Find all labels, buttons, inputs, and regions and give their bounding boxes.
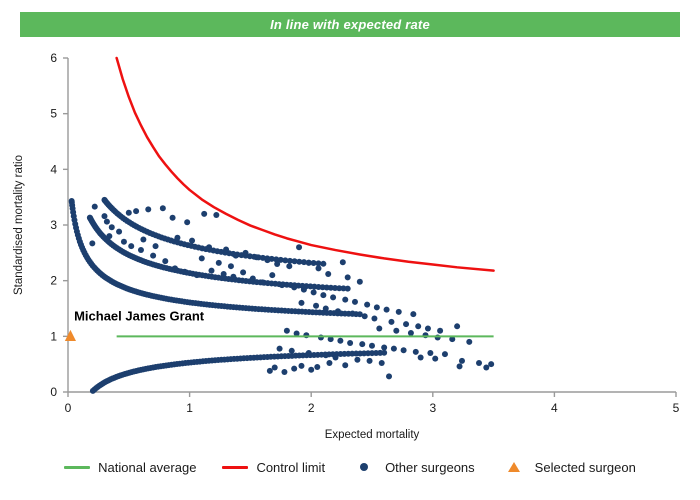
- selected-surgeon-annotation: Michael James Grant: [74, 309, 205, 324]
- x-axis-tick-label: 0: [65, 401, 72, 415]
- status-banner: In line with expected rate: [20, 12, 680, 37]
- scatter-point[interactable]: [325, 271, 331, 277]
- scatter-point[interactable]: [418, 354, 424, 360]
- scatter-point[interactable]: [223, 246, 229, 252]
- axis-titles-group: Expected mortalityStandardised mortality…: [13, 155, 420, 441]
- scatter-point[interactable]: [335, 308, 341, 314]
- scatter-point[interactable]: [413, 349, 419, 355]
- scatter-point[interactable]: [253, 254, 259, 260]
- scatter-point[interactable]: [301, 287, 307, 293]
- scatter-point[interactable]: [184, 219, 190, 225]
- selected-surgeon-marker-group[interactable]: [65, 330, 76, 341]
- scatter-point[interactable]: [376, 326, 382, 332]
- scatter-point[interactable]: [432, 356, 438, 362]
- scatter-point[interactable]: [172, 265, 178, 271]
- scatter-point[interactable]: [359, 341, 365, 347]
- scatter-point[interactable]: [364, 302, 370, 308]
- scatter-point[interactable]: [145, 206, 151, 212]
- scatter-point[interactable]: [306, 350, 312, 356]
- scatter-point[interactable]: [228, 263, 234, 269]
- y-axis-tick-label: 6: [50, 51, 57, 65]
- scatter-point[interactable]: [371, 316, 377, 322]
- scatter-point[interactable]: [189, 238, 195, 244]
- scatter-point[interactable]: [138, 247, 144, 253]
- scatter-point[interactable]: [311, 289, 317, 295]
- scatter-point[interactable]: [153, 243, 159, 249]
- scatter-point[interactable]: [350, 311, 356, 317]
- scatter-point[interactable]: [393, 328, 399, 334]
- scatter-point[interactable]: [230, 274, 236, 280]
- scatter-point[interactable]: [206, 244, 212, 250]
- scatter-point[interactable]: [442, 351, 448, 357]
- chart-plot-area: 0123456012345 Expected mortalityStandard…: [0, 40, 700, 450]
- scatter-point[interactable]: [170, 215, 176, 221]
- scatter-point[interactable]: [240, 269, 246, 275]
- legend-line-swatch-icon: [64, 466, 90, 469]
- scatter-point[interactable]: [333, 354, 339, 360]
- scatter-point[interactable]: [308, 367, 314, 373]
- y-axis-title: Standardised mortality ratio: [13, 155, 25, 295]
- scatter-point[interactable]: [403, 321, 409, 327]
- scatter-point[interactable]: [279, 282, 285, 288]
- scatter-point[interactable]: [408, 330, 414, 336]
- x-axis-tick-label: 5: [673, 401, 680, 415]
- legend-item-control-limit[interactable]: Control limit: [222, 460, 325, 475]
- scatter-point[interactable]: [272, 365, 278, 371]
- scatter-point[interactable]: [174, 235, 180, 241]
- scatter-point[interactable]: [391, 346, 397, 352]
- scatter-point[interactable]: [340, 259, 346, 265]
- scatter-point[interactable]: [457, 363, 463, 369]
- scatter-point[interactable]: [233, 253, 239, 259]
- scatter-point[interactable]: [362, 313, 368, 319]
- scatter-point[interactable]: [483, 365, 489, 371]
- scatter-point[interactable]: [216, 260, 222, 266]
- scatter-point[interactable]: [140, 236, 146, 242]
- scatter-point[interactable]: [459, 358, 465, 364]
- scatter-point[interactable]: [89, 240, 95, 246]
- scatter-point[interactable]: [128, 243, 134, 249]
- x-axis-title: Expected mortality: [325, 429, 420, 441]
- scatter-point[interactable]: [425, 326, 431, 332]
- legend-item-label: Other surgeons: [385, 460, 475, 475]
- x-axis-tick-label: 2: [308, 401, 315, 415]
- scatter-point[interactable]: [314, 364, 320, 370]
- scatter-point[interactable]: [150, 253, 156, 259]
- legend-item-selected-surgeon[interactable]: Selected surgeon: [501, 460, 636, 475]
- scatter-point[interactable]: [208, 268, 214, 274]
- y-axis-tick-label: 5: [50, 107, 57, 121]
- legend-line-swatch-icon: [222, 466, 248, 469]
- scatter-point[interactable]: [410, 311, 416, 317]
- scatter-point[interactable]: [121, 239, 127, 245]
- scatter-point[interactable]: [320, 292, 326, 298]
- scatter-point[interactable]: [109, 224, 115, 230]
- scatter-point[interactable]: [160, 205, 166, 211]
- y-axis-tick-label: 2: [50, 274, 57, 288]
- scatter-point[interactable]: [388, 319, 394, 325]
- scatter-point[interactable]: [213, 212, 219, 218]
- scatter-point[interactable]: [320, 261, 326, 267]
- legend-triangle-swatch-icon: [508, 462, 520, 472]
- scatter-point[interactable]: [466, 339, 472, 345]
- y-axis-tick-label: 4: [50, 162, 57, 176]
- scatter-point[interactable]: [427, 350, 433, 356]
- scatter-point[interactable]: [342, 297, 348, 303]
- scatter-point[interactable]: [323, 352, 329, 358]
- scatter-point[interactable]: [116, 229, 122, 235]
- scatter-point[interactable]: [250, 275, 256, 281]
- selected-surgeon-marker[interactable]: [65, 330, 76, 341]
- scatter-point[interactable]: [194, 272, 200, 278]
- scatter-point[interactable]: [267, 368, 273, 374]
- scatter-point[interactable]: [162, 258, 168, 264]
- scatter-point[interactable]: [298, 300, 304, 306]
- data-points-group: [69, 197, 495, 394]
- scatter-point[interactable]: [326, 360, 332, 366]
- scatter-point[interactable]: [289, 348, 295, 354]
- scatter-point[interactable]: [454, 323, 460, 329]
- annotations-group: Michael James Grant: [74, 309, 205, 324]
- scatter-point[interactable]: [199, 255, 205, 261]
- scatter-point[interactable]: [381, 350, 387, 356]
- scatter-point[interactable]: [379, 360, 385, 366]
- scatter-point[interactable]: [201, 211, 207, 217]
- scatter-point[interactable]: [357, 279, 363, 285]
- scatter-point[interactable]: [347, 340, 353, 346]
- scatter-point[interactable]: [106, 233, 112, 239]
- legend-item-label: National average: [98, 460, 196, 475]
- scatter-point[interactable]: [277, 346, 283, 352]
- scatter-point[interactable]: [260, 279, 266, 285]
- y-axis-tick-label: 3: [50, 218, 57, 232]
- scatter-point[interactable]: [126, 210, 132, 216]
- y-axis-tick-label: 0: [50, 385, 57, 399]
- scatter-point[interactable]: [264, 257, 270, 263]
- scatter-point[interactable]: [291, 284, 297, 290]
- legend-item-national-average[interactable]: National average: [64, 460, 196, 475]
- scatter-point[interactable]: [384, 307, 390, 313]
- x-axis-tick-label: 3: [429, 401, 436, 415]
- scatter-point[interactable]: [330, 294, 336, 300]
- scatter-point[interactable]: [221, 271, 227, 277]
- legend-item-other-surgeons[interactable]: Other surgeons: [351, 460, 475, 475]
- scatter-point[interactable]: [354, 357, 360, 363]
- scatter-point[interactable]: [374, 304, 380, 310]
- scatter-point[interactable]: [92, 204, 98, 210]
- scatter-point[interactable]: [381, 344, 387, 350]
- scatter-point[interactable]: [133, 208, 139, 214]
- scatter-point[interactable]: [345, 286, 351, 292]
- scatter-point[interactable]: [269, 272, 275, 278]
- scatter-point[interactable]: [367, 358, 373, 364]
- legend-item-label: Selected surgeon: [535, 460, 636, 475]
- scatter-point[interactable]: [345, 274, 351, 280]
- scatter-point[interactable]: [488, 361, 494, 367]
- scatter-point[interactable]: [401, 347, 407, 353]
- scatter-plot-svg: 0123456012345 Expected mortalityStandard…: [0, 40, 700, 450]
- scatter-point[interactable]: [104, 219, 110, 225]
- scatter-point[interactable]: [243, 250, 249, 256]
- scatter-point[interactable]: [396, 309, 402, 315]
- scatter-point[interactable]: [182, 269, 188, 275]
- scatter-point[interactable]: [296, 244, 302, 250]
- scatter-point[interactable]: [476, 360, 482, 366]
- legend-dot-swatch-icon: [360, 463, 368, 471]
- scatter-point[interactable]: [286, 263, 292, 269]
- y-axis-tick-label: 1: [50, 329, 57, 343]
- status-banner-label: In line with expected rate: [270, 17, 430, 32]
- scatter-point[interactable]: [281, 369, 287, 375]
- scatter-point[interactable]: [284, 328, 290, 334]
- scatter-point[interactable]: [291, 366, 297, 372]
- scatter-point[interactable]: [369, 343, 375, 349]
- scatter-point[interactable]: [298, 363, 304, 369]
- scatter-point[interactable]: [316, 265, 322, 271]
- scatter-point[interactable]: [313, 303, 319, 309]
- legend-item-label: Control limit: [256, 460, 325, 475]
- x-axis-tick-label: 1: [186, 401, 193, 415]
- x-axis-tick-label: 4: [551, 401, 558, 415]
- scatter-point[interactable]: [337, 338, 343, 344]
- scatter-point[interactable]: [415, 323, 421, 329]
- scatter-point[interactable]: [342, 362, 348, 368]
- scatter-point[interactable]: [274, 261, 280, 267]
- chart-legend: National averageControl limitOther surge…: [0, 452, 700, 482]
- scatter-point[interactable]: [352, 299, 358, 305]
- scatter-point[interactable]: [101, 213, 107, 219]
- scatter-point[interactable]: [386, 373, 392, 379]
- scatter-point[interactable]: [323, 306, 329, 312]
- scatter-point[interactable]: [437, 328, 443, 334]
- smr-funnel-chart-page: In line with expected rate 0123456012345…: [0, 0, 700, 500]
- scatter-point[interactable]: [306, 260, 312, 266]
